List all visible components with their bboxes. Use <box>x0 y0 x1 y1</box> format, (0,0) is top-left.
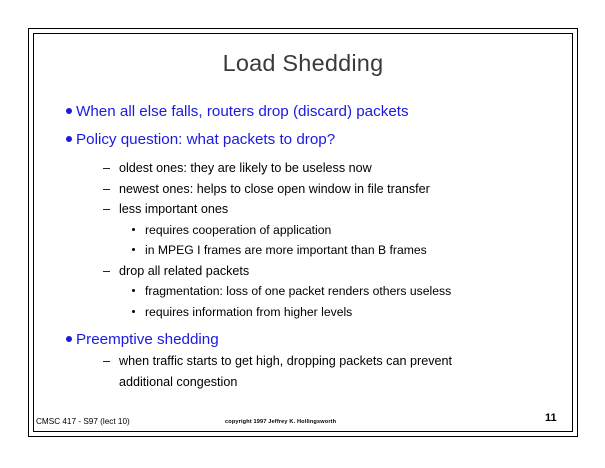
bullet-level3-label: requires cooperation of application <box>145 223 331 237</box>
bullet-level1-item: Policy question: what packets to drop? <box>33 128 573 151</box>
bullet-level3-item: requires information from higher levels <box>33 302 573 323</box>
bullet-dot-icon <box>132 228 135 231</box>
bullet-dot-icon <box>132 289 135 292</box>
bullet-level1-label: Policy question: what packets to drop? <box>76 131 335 148</box>
bullet-level3-item: in MPEG I frames are more important than… <box>33 240 573 261</box>
dash-icon: – <box>103 158 110 179</box>
bullet-level1-label: When all else falls, routers drop (disca… <box>76 103 409 120</box>
dash-icon: – <box>103 261 110 282</box>
bullet-level2-label: drop all related packets <box>119 264 249 278</box>
bullet-level3-item: requires cooperation of application <box>33 220 573 241</box>
bullet-dot-icon <box>66 108 72 114</box>
bullet-level2-item: – less important ones <box>33 199 573 220</box>
bullet-level2-item: – oldest ones: they are likely to be use… <box>33 158 573 179</box>
page-title: Load Shedding <box>33 50 573 77</box>
slide: Load Shedding When all else falls, route… <box>0 0 605 468</box>
bullet-level1-item: Preemptive shedding <box>33 328 573 351</box>
dash-icon: – <box>103 351 110 372</box>
bullet-level2-label: oldest ones: they are likely to be usele… <box>119 161 372 175</box>
bullet-dot-icon <box>66 336 72 342</box>
bullet-dot-icon <box>132 310 135 313</box>
bullet-level3-item: fragmentation: loss of one packet render… <box>33 281 573 302</box>
bullet-level3-label: requires information from higher levels <box>145 305 352 319</box>
slide-body: When all else falls, routers drop (disca… <box>33 100 573 392</box>
bullet-level2-label: when traffic starts to get high, droppin… <box>119 354 452 368</box>
bullet-level2-item: – newest ones: helps to close open windo… <box>33 179 573 200</box>
bullet-level2-item: – drop all related packets <box>33 261 573 282</box>
footer-copyright-label: copyright 1997 Jeffrey K. Hollingsworth <box>225 419 336 425</box>
bullet-level1-item: When all else falls, routers drop (disca… <box>33 100 573 123</box>
dash-icon: – <box>103 199 110 220</box>
bullet-level2-label: less important ones <box>119 202 228 216</box>
footer-course-label: CMSC 417 - S97 (lect 10) <box>36 417 130 426</box>
bullet-level1-label: Preemptive shedding <box>76 331 219 348</box>
bullet-level2-wrap-line: additional congestion <box>33 372 573 393</box>
bullet-level2-label: newest ones: helps to close open window … <box>119 182 430 196</box>
dash-icon: – <box>103 179 110 200</box>
page-number: 11 <box>545 412 557 424</box>
bullet-level3-label: fragmentation: loss of one packet render… <box>145 284 451 298</box>
bullet-dot-icon <box>132 248 135 251</box>
bullet-level3-label: in MPEG I frames are more important than… <box>145 243 427 257</box>
bullet-level2-item: – when traffic starts to get high, dropp… <box>33 351 573 372</box>
bullet-level2-label-cont: additional congestion <box>119 375 237 389</box>
bullet-dot-icon <box>66 136 72 142</box>
